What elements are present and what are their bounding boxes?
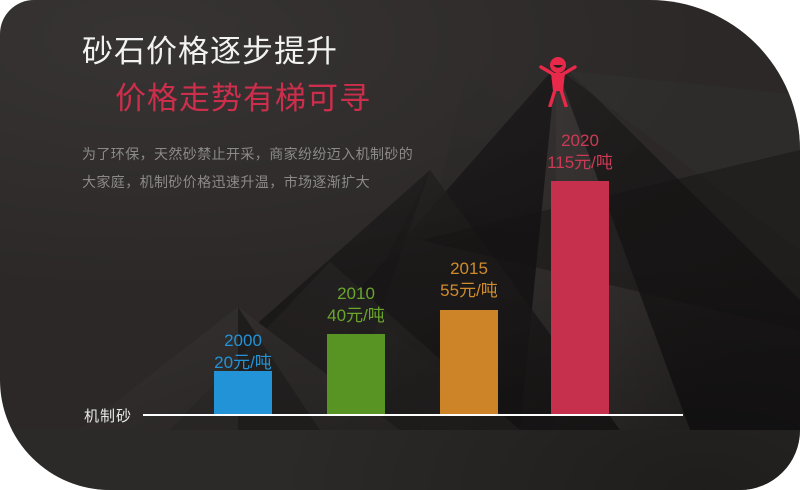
bar-year-2015: 2015 [420, 258, 518, 280]
infographic-stage: 砂石价格逐步提升 价格走势有梯可寻 为了环保，天然砂禁止开采，商家纷纷迈入机制砂… [0, 0, 800, 490]
bar-2015 [440, 310, 498, 414]
bar-year-2020: 2020 [531, 130, 629, 152]
axis-baseline [143, 414, 683, 416]
bar-2000 [214, 371, 272, 414]
bar-value-2015: 55元/吨 [420, 280, 518, 302]
axis-label-jizhisha: 机制砂 [84, 405, 132, 426]
bar-label-2000: 2000 20元/吨 [194, 330, 292, 374]
bar-year-2000: 2000 [194, 330, 292, 352]
bar-value-2020: 115元/吨 [531, 152, 629, 174]
bar-2010 [327, 334, 385, 414]
bar-label-2015: 2015 55元/吨 [420, 258, 518, 302]
bar-chart: 2000 20元/吨 2010 40元/吨 2015 55元/吨 2020 11… [0, 0, 800, 490]
dark-panel: 砂石价格逐步提升 价格走势有梯可寻 为了环保，天然砂禁止开采，商家纷纷迈入机制砂… [0, 0, 800, 490]
bar-year-2010: 2010 [307, 283, 405, 305]
bar-value-2010: 40元/吨 [307, 305, 405, 327]
bar-2020 [551, 181, 609, 414]
celebrating-person-icon [536, 55, 580, 107]
bar-label-2010: 2010 40元/吨 [307, 283, 405, 327]
bar-label-2020: 2020 115元/吨 [531, 130, 629, 174]
bar-value-2000: 20元/吨 [194, 352, 292, 374]
